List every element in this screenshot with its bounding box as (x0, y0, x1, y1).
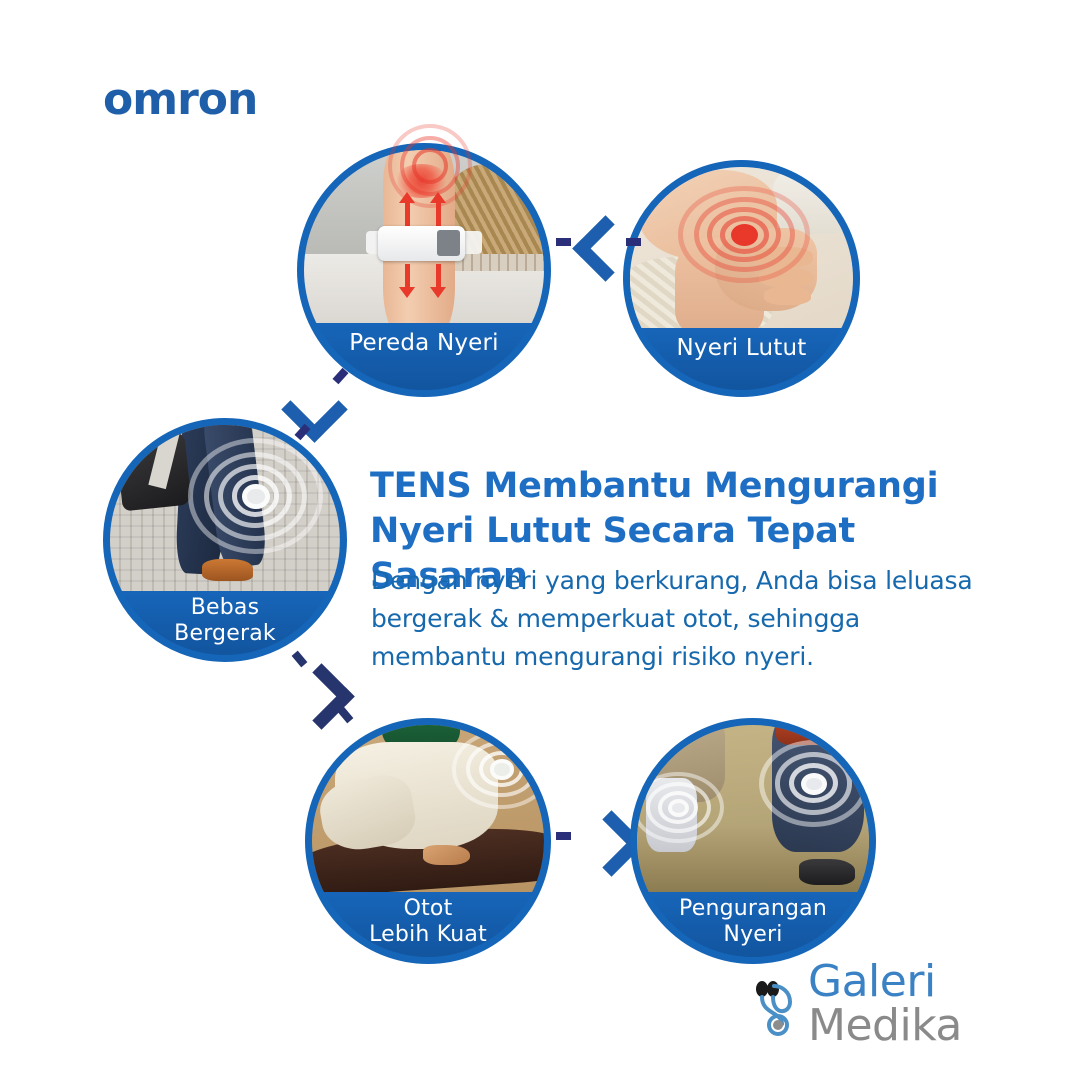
node-bebas-bergerak-label: Bebas Bergerak (110, 591, 340, 655)
node-nyeri-lutut-label: Nyeri Lutut (630, 328, 853, 390)
node-pengurangan-nyeri-label: Pengurangan Nyeri (637, 892, 869, 957)
watermark-text-secondary: Medika (808, 1000, 962, 1051)
node-bebas-bergerak-label-line2: Bergerak (174, 621, 276, 646)
node-bebas-bergerak-label-line1: Bebas (191, 595, 260, 620)
page-body-text: Dengan nyeri yang berkurang, Anda bisa l… (371, 562, 1011, 676)
node-bebas-bergerak: Bebas Bergerak (103, 418, 347, 662)
body-line-1: Dengan nyeri yang berkurang, Anda bisa l… (371, 562, 1011, 600)
node-otot-lebih-kuat-label: Otot Lebih Kuat (312, 892, 544, 957)
node-pengurangan-nyeri-photo (637, 725, 869, 892)
node-otot-lebih-kuat-label-line1: Otot (404, 896, 453, 921)
galeri-medika-watermark: Galeri Medika (752, 972, 1080, 1036)
node-bebas-bergerak-photo (110, 425, 340, 591)
node-pengurangan-nyeri: Pengurangan Nyeri (630, 718, 876, 964)
node-pengurangan-nyeri-label-line1: Pengurangan (679, 896, 827, 921)
node-pengurangan-nyeri-label-line2: Nyeri (723, 922, 782, 947)
node-otot-lebih-kuat-label-line2: Lebih Kuat (369, 922, 487, 947)
watermark-text: Galeri Medika (808, 960, 1080, 1048)
node-pereda-nyeri-photo (304, 150, 544, 323)
stethoscope-icon (752, 972, 806, 1036)
node-pereda-nyeri: Pereda Nyeri (297, 143, 551, 397)
node-otot-lebih-kuat-photo (312, 725, 544, 892)
body-line-3: membantu mengurangi risiko nyeri. (371, 638, 1011, 676)
arrow-pereda-to-bebas (275, 366, 375, 446)
omron-logo: omron (103, 78, 257, 122)
body-line-2: bergerak & memperkuat otot, sehingga (371, 600, 1011, 638)
node-nyeri-lutut: Nyeri Lutut (623, 160, 860, 397)
node-otot-lebih-kuat: Otot Lebih Kuat (305, 718, 551, 964)
headline-line-1: TENS Membantu Mengurangi (370, 464, 1000, 509)
infographic-canvas: omron Pereda Nyeri (0, 0, 1080, 1080)
arrow-nyeri-to-pereda (556, 212, 666, 276)
